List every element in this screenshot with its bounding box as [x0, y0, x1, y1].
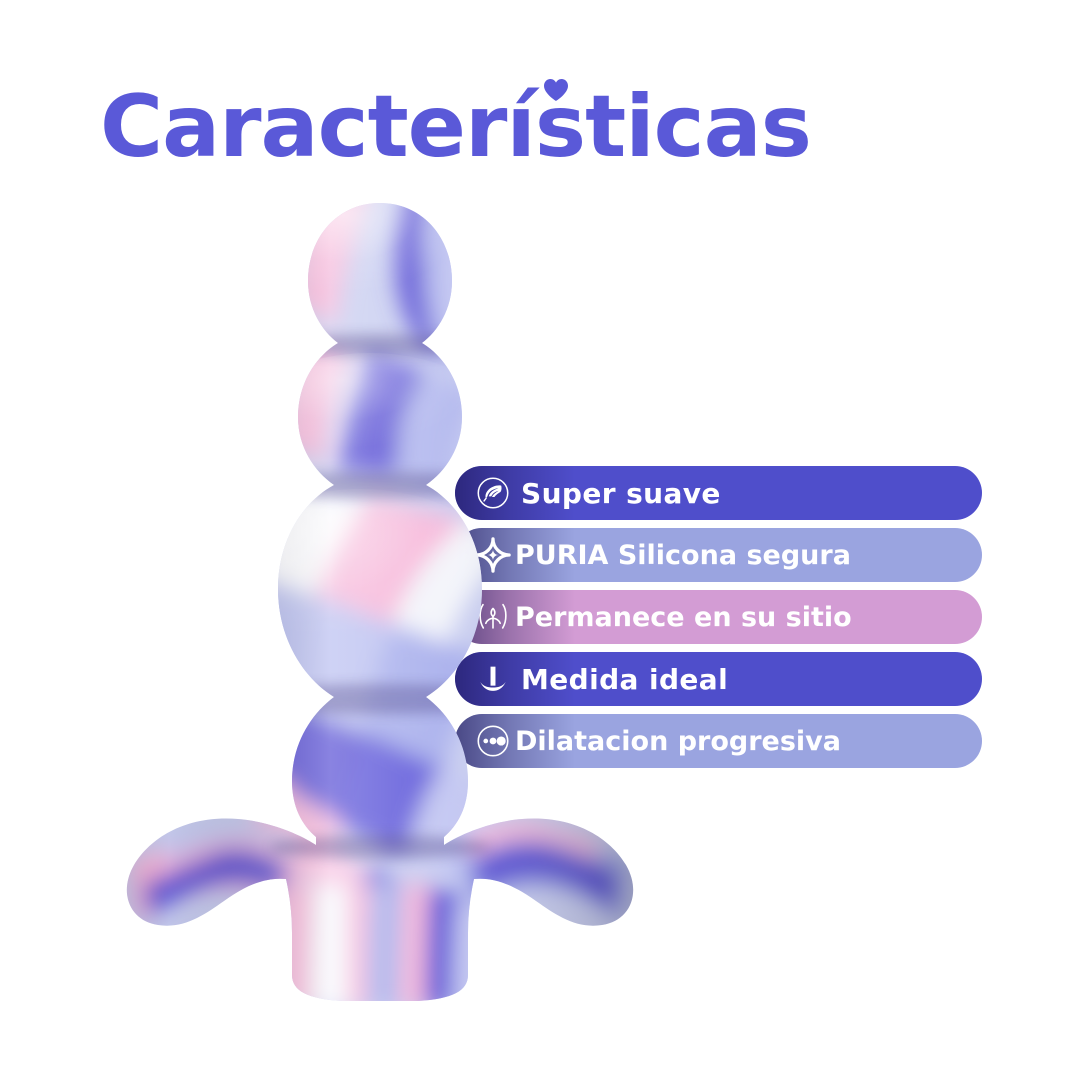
- page-title: Características: [100, 84, 811, 170]
- infographic-canvas: Características Super suave: [0, 0, 1080, 1080]
- product-image: [70, 185, 690, 1025]
- page-title-container: Características: [100, 72, 820, 182]
- product-body: [70, 185, 690, 1025]
